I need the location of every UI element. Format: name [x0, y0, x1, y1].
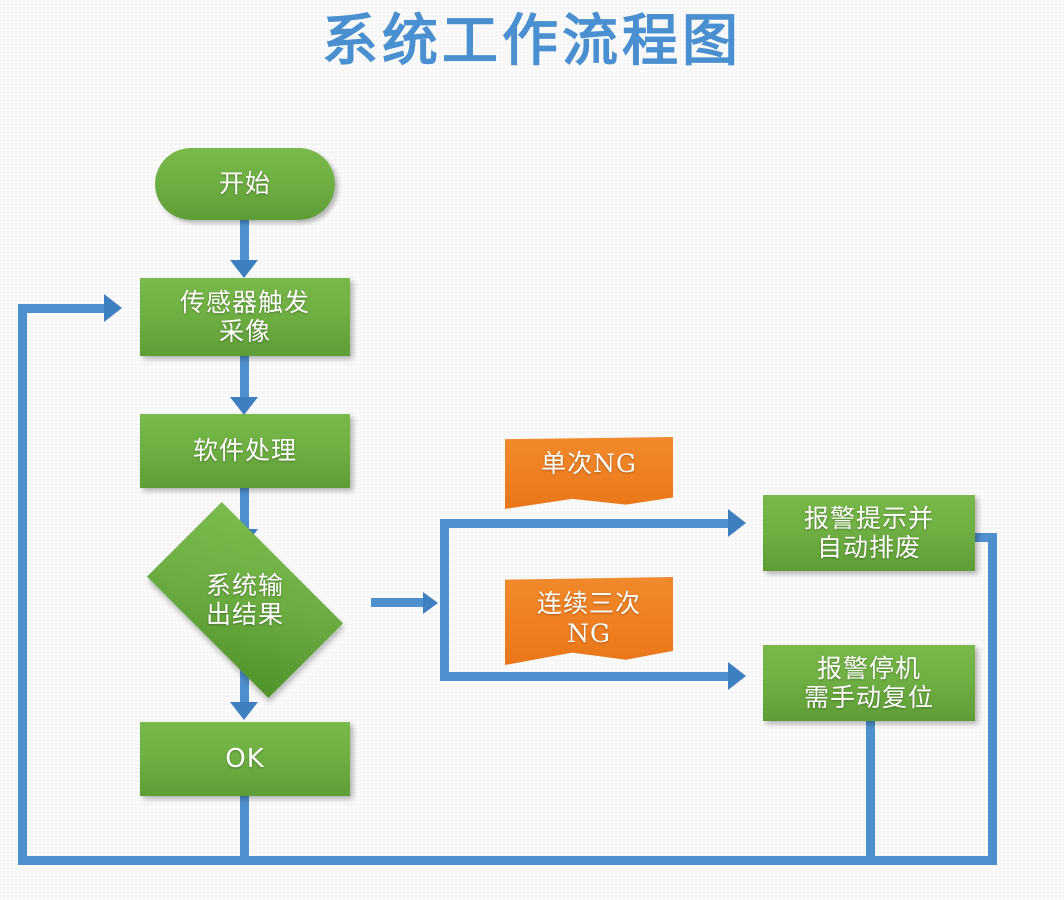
connector-start-to-sensor	[240, 218, 249, 266]
node-start[interactable]: 开始	[155, 148, 335, 220]
decision-label: 系统输 出结果	[206, 571, 284, 630]
connector-branch-trunk	[440, 519, 449, 681]
node-sensor-trigger[interactable]: 传感器触发 采像	[140, 278, 350, 356]
flowchart-canvas: 系统工作流程图 开始 传感器触发 采像 软件处理 系统输 出结果 OK	[0, 0, 1064, 900]
connector-sensor-to-software	[240, 355, 249, 403]
node-alarm-reject[interactable]: 报警提示并 自动排废	[763, 495, 975, 571]
connector-bottom-rail	[18, 856, 997, 865]
node-alarm-stop[interactable]: 报警停机 需手动复位	[763, 645, 975, 721]
arrowhead-branch-to-alarm-reject	[728, 509, 746, 537]
arrowhead-branch-to-alarm-stop	[728, 662, 746, 690]
connector-left-riser	[18, 304, 27, 862]
banner-triple-ng[interactable]: 连续三次 NG	[505, 577, 673, 665]
connector-branch-to-alarm-stop	[440, 672, 740, 681]
connector-alarm-stop-down	[866, 715, 875, 865]
banner-single-ng[interactable]: 单次NG	[505, 437, 673, 509]
connector-branch-to-alarm-reject	[440, 519, 740, 528]
arrowhead-sensor-to-software	[230, 397, 258, 415]
node-software-process[interactable]: 软件处理	[140, 414, 350, 488]
arrowhead-decision-to-ok	[230, 702, 258, 720]
arrowhead-start-to-sensor	[230, 260, 258, 278]
connector-ok-down	[240, 795, 249, 865]
node-decision[interactable]: 系统输 出结果	[125, 540, 365, 660]
connector-decision-to-branch	[371, 598, 427, 607]
arrowhead-decision-to-branch	[423, 592, 438, 614]
arrowhead-left-to-sensor	[104, 294, 122, 322]
page-title: 系统工作流程图	[0, 12, 1064, 71]
connector-left-to-sensor	[18, 304, 114, 313]
node-ok[interactable]: OK	[140, 722, 350, 796]
connector-alarm-reject-down	[988, 533, 997, 865]
